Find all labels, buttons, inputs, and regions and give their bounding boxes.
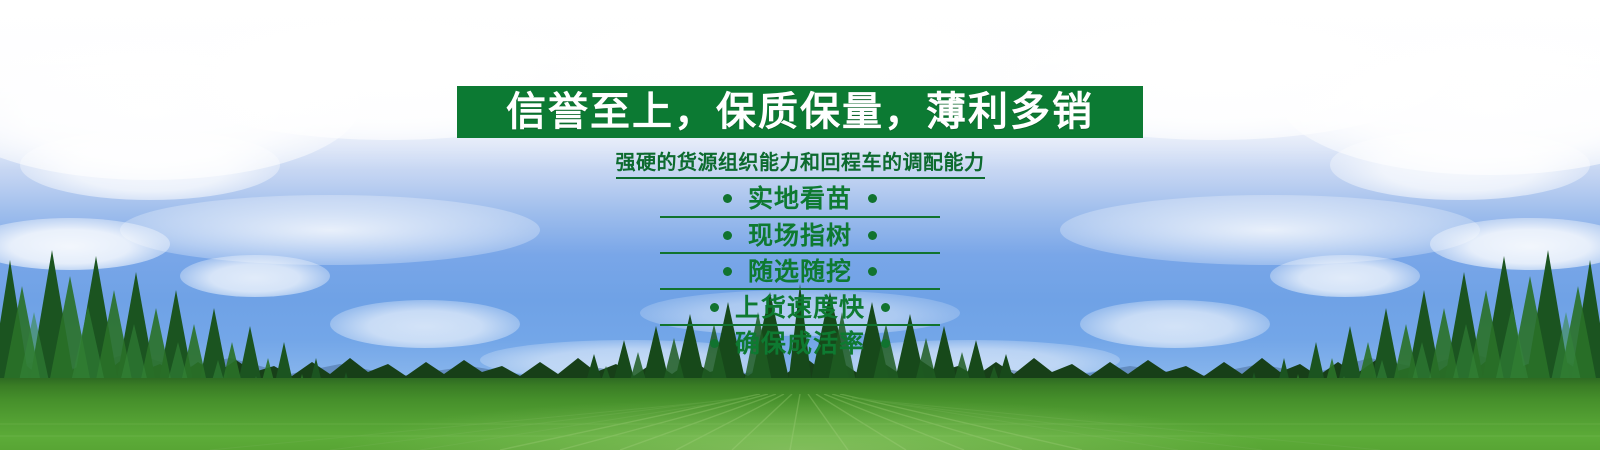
upper-cloud-wash	[0, 0, 1600, 170]
headline-bar: 信誉至上，保质保量，薄利多销	[457, 86, 1143, 138]
subtitle-text: 强硬的货源组织能力和回程车的调配能力	[616, 146, 985, 179]
bullet-dot-icon	[868, 267, 877, 276]
bullet-dot-icon	[868, 231, 877, 240]
feature-item: 实地看苗	[660, 180, 940, 216]
feature-label: 现场指树	[748, 223, 852, 248]
feature-item: 确保成活率	[660, 324, 940, 360]
feature-item: 现场指树	[660, 216, 940, 252]
bullet-dot-icon	[710, 339, 719, 348]
feature-label: 上货速度快	[735, 295, 865, 320]
bullet-dot-icon	[881, 339, 890, 348]
headline-text: 信誉至上，保质保量，薄利多销	[506, 92, 1094, 132]
feature-item: 上货速度快	[660, 288, 940, 324]
feature-item: 随选随挖	[660, 252, 940, 288]
field-highlight	[0, 378, 1600, 450]
feature-label: 实地看苗	[748, 186, 852, 211]
subtitle: 强硬的货源组织能力和回程车的调配能力	[0, 146, 1600, 179]
feature-label: 确保成活率	[735, 331, 865, 356]
bullet-dot-icon	[723, 267, 732, 276]
bullet-dot-icon	[723, 231, 732, 240]
feature-list: 实地看苗 现场指树 随选随挖 上货速度快 确保成活率	[0, 180, 1600, 360]
bullet-dot-icon	[881, 303, 890, 312]
bullet-dot-icon	[868, 194, 877, 203]
bullet-dot-icon	[710, 303, 719, 312]
bullet-dot-icon	[723, 194, 732, 203]
promo-banner: 信誉至上，保质保量，薄利多销 强硬的货源组织能力和回程车的调配能力 实地看苗 现…	[0, 0, 1600, 450]
feature-label: 随选随挖	[748, 259, 852, 284]
